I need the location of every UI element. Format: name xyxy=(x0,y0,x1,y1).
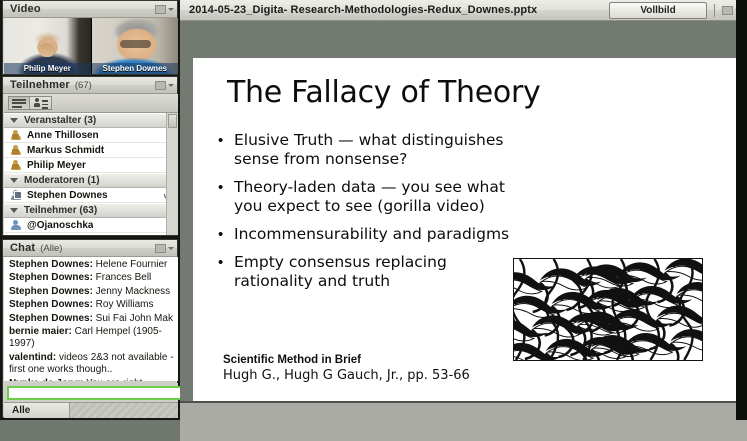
host-avatar-icon xyxy=(10,130,21,140)
slide-caption: Scientific Method in Brief Hugh G., Hugh… xyxy=(223,354,470,383)
menu-square-glyph xyxy=(155,81,166,90)
chat-pod-header: Chat (Alle) xyxy=(3,240,177,257)
chat-author: Nynke de Jong: xyxy=(9,378,83,381)
slide-bullet: • Incommensurability and paradigms xyxy=(216,225,526,244)
menu-square-glyph xyxy=(155,5,166,14)
chat-text: Jenny Mackness xyxy=(93,286,170,297)
chat-tab-bar: Alle xyxy=(4,402,178,418)
chat-message: Stephen Downes: Roy Williams xyxy=(9,299,175,311)
caption-title: Scientific Method in Brief xyxy=(223,354,470,366)
video-pod-header: Video xyxy=(3,1,177,18)
participants-count: (67) xyxy=(75,80,92,91)
participants-group-header[interactable]: Teilnehmer (63) xyxy=(4,203,178,218)
scrollbar-thumb[interactable] xyxy=(168,114,177,128)
chat-pod-title: Chat xyxy=(10,242,35,254)
participant-row[interactable]: Philip Meyer xyxy=(4,158,178,173)
chat-pod-menu-icon[interactable] xyxy=(155,244,174,253)
bullet-marker: • xyxy=(216,131,234,169)
slide-figure-area xyxy=(193,258,747,363)
chat-text: Roy Williams xyxy=(93,299,154,310)
group-label: Veranstalter (3) xyxy=(24,113,96,128)
slide-bullet: • Theory-laden data — you see what you e… xyxy=(216,178,526,216)
share-pod-header: 2014-05-23_Digita- Research-Methodologie… xyxy=(180,0,747,21)
video-tile-label: Philip Meyer xyxy=(4,63,91,74)
menu-square-glyph xyxy=(155,244,166,253)
chat-input-row xyxy=(4,383,178,403)
video-tile-stephen-downes[interactable]: Stephen Downes xyxy=(92,18,179,74)
participant-name: Andreas Link xyxy=(27,233,90,236)
fullscreen-button[interactable]: Vollbild xyxy=(609,2,707,19)
document-title: 2014-05-23_Digita- Research-Methodologie… xyxy=(189,4,537,16)
bullet-marker: • xyxy=(216,225,234,244)
stage-bottom-bar xyxy=(180,401,747,441)
group-label: Moderatoren (1) xyxy=(24,173,100,188)
tab-alle[interactable]: Alle xyxy=(4,403,70,418)
list-view-icon xyxy=(12,99,26,108)
moderator-avatar-icon xyxy=(10,190,21,200)
chat-message: bernie maier: Carl Hempel (1905-1997) xyxy=(9,326,175,351)
chat-input[interactable] xyxy=(7,386,192,400)
participant-row[interactable]: Andreas Link xyxy=(4,233,178,235)
chat-text: Helene Fournier xyxy=(93,259,167,270)
disclosure-triangle-icon xyxy=(10,178,18,183)
chat-text: Sui Fai John Mak xyxy=(93,313,173,324)
window-right-edge xyxy=(736,0,747,420)
host-avatar-icon xyxy=(10,145,21,155)
participants-pod-title: Teilnehmer xyxy=(10,79,70,91)
chat-text: You are right xyxy=(83,378,142,381)
participant-row[interactable]: Markus Schmidt xyxy=(4,143,178,158)
list-view-button[interactable] xyxy=(8,96,30,110)
chat-author: Stephen Downes: xyxy=(9,286,93,297)
participants-pod: Teilnehmer (67) xyxy=(2,76,178,236)
chat-message: Stephen Downes: Jenny Mackness xyxy=(9,286,175,298)
people-view-button[interactable] xyxy=(30,96,52,110)
chat-author: Stephen Downes: xyxy=(9,259,93,270)
share-pod: 2014-05-23_Digita- Research-Methodologie… xyxy=(180,0,747,420)
chat-author: Stephen Downes: xyxy=(9,272,93,283)
participants-pod-header: Teilnehmer (67) xyxy=(3,77,177,94)
video-pod-title: Video xyxy=(10,3,41,15)
participants-group-header[interactable]: Veranstalter (3) xyxy=(4,113,178,128)
chat-pod: Chat (Alle) Stephen Downes: Helene Fourn… xyxy=(2,239,178,418)
chat-author: valentind: xyxy=(9,352,56,363)
escher-bird-tessellation-image xyxy=(513,258,703,361)
group-label: Teilnehmer (63) xyxy=(24,203,97,218)
slide-stage: The Fallacy of Theory • Elusive Truth — … xyxy=(180,21,747,420)
chat-author: Stephen Downes: xyxy=(9,313,93,324)
header-divider xyxy=(714,4,715,17)
chat-author: bernie maier: xyxy=(9,326,72,337)
disclosure-triangle-icon xyxy=(10,118,18,123)
chevron-down-icon xyxy=(168,247,174,250)
chat-message-list[interactable]: Stephen Downes: Helene Fournier Stephen … xyxy=(4,257,178,381)
chat-text: Frances Bell xyxy=(93,272,151,283)
participant-row[interactable]: Anne Thillosen xyxy=(4,128,178,143)
host-avatar-icon xyxy=(10,160,21,170)
participants-list[interactable]: Veranstalter (3) Anne Thillosen Markus S… xyxy=(4,113,178,235)
menu-square-glyph xyxy=(722,6,733,15)
video-tile-philip-meyer[interactable]: Philip Meyer xyxy=(4,18,92,74)
video-pod-menu-icon[interactable] xyxy=(155,5,174,14)
participants-scrollbar[interactable] xyxy=(166,113,178,235)
video-tile-label: Stephen Downes xyxy=(92,63,179,74)
participant-name: Philip Meyer xyxy=(27,158,86,173)
participant-avatar-icon xyxy=(10,220,21,230)
bullet-text: Incommensurability and paradigms xyxy=(234,225,509,244)
participant-row[interactable]: @Ojanoschka xyxy=(4,218,178,233)
participant-name: @Ojanoschka xyxy=(27,218,93,233)
bullet-text: Theory-laden data — you see what you exp… xyxy=(234,178,526,216)
participant-name: Anne Thillosen xyxy=(27,128,99,143)
chat-scope-label: (Alle) xyxy=(40,243,62,254)
video-pod: Video Philip Meyer Stephen Downes xyxy=(2,0,178,75)
participant-name: Markus Schmidt xyxy=(27,143,104,158)
participant-name: Stephen Downes xyxy=(27,188,108,203)
chat-author: Stephen Downes: xyxy=(9,299,93,310)
disclosure-triangle-icon xyxy=(10,208,18,213)
chat-message: Nynke de Jong: You are right xyxy=(9,378,175,381)
slide-canvas[interactable]: The Fallacy of Theory • Elusive Truth — … xyxy=(193,58,747,401)
chevron-down-icon xyxy=(168,8,174,11)
chat-message: Stephen Downes: Frances Bell xyxy=(9,272,175,284)
chat-message: Stephen Downes: Sui Fai John Mak xyxy=(9,313,175,325)
left-panel-column: Video Philip Meyer Stephen Downes xyxy=(0,0,180,420)
participants-group-header[interactable]: Moderatoren (1) xyxy=(4,173,178,188)
slide-bullet: • Elusive Truth — what distinguishes sen… xyxy=(216,131,526,169)
video-tiles: Philip Meyer Stephen Downes xyxy=(4,18,178,74)
chevron-down-icon xyxy=(168,84,174,87)
participant-row[interactable]: Stephen Downes xyxy=(4,188,178,203)
bullet-marker: • xyxy=(216,178,234,216)
participants-toolbar xyxy=(4,94,178,113)
caption-subtitle: Hugh G., Hugh G Gauch, Jr., pp. 53-66 xyxy=(223,368,470,383)
participants-pod-menu-icon[interactable] xyxy=(155,81,174,90)
chat-message: valentind: videos 2&3 not available - fi… xyxy=(9,352,175,377)
chat-message: Stephen Downes: Helene Fournier xyxy=(9,259,175,271)
bullet-text: Elusive Truth — what distinguishes sense… xyxy=(234,131,526,169)
webinar-app-window: Video Philip Meyer Stephen Downes xyxy=(0,0,747,420)
people-view-icon xyxy=(34,98,48,108)
slide-title: The Fallacy of Theory xyxy=(227,75,540,110)
